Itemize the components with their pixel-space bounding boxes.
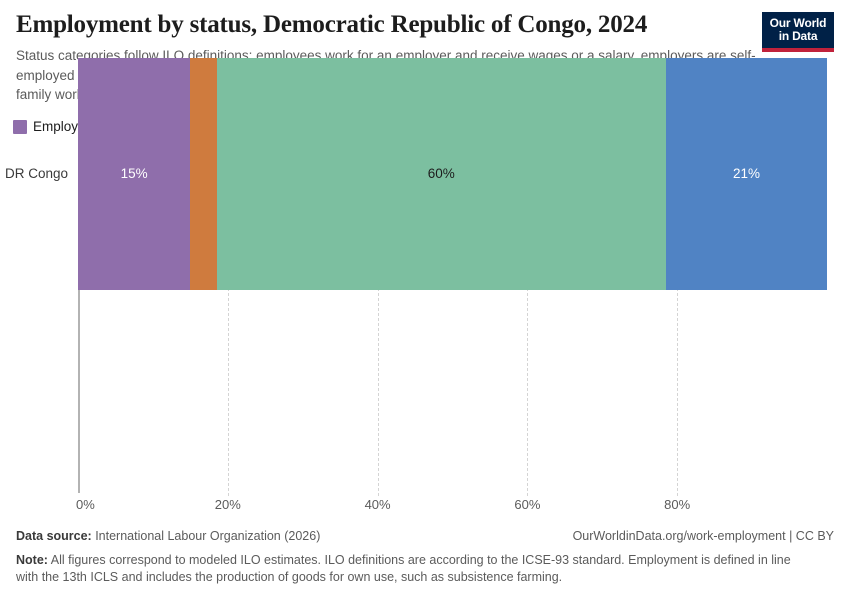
note-label: Note: (16, 553, 48, 567)
bar-segment-value: 15% (121, 166, 148, 182)
owid-logo[interactable]: Our World in Data (762, 12, 834, 52)
data-source-value: International Labour Organization (2026) (92, 529, 321, 543)
bar-segment-value: 60% (428, 166, 455, 182)
bar-segment[interactable]: 60% (217, 58, 666, 290)
x-axis-tick-label: 80% (664, 497, 690, 512)
bar-segment-value: 21% (733, 166, 760, 182)
x-axis: 0%20%40%60%80% (78, 493, 827, 513)
chart-page: Employment by status, Democratic Republi… (0, 0, 850, 600)
x-axis-tick-label: 40% (365, 497, 391, 512)
x-axis-tick-label: 20% (215, 497, 241, 512)
bar-segment[interactable]: 21% (666, 58, 827, 290)
data-source-label: Data source: (16, 529, 92, 543)
legend-swatch-icon (13, 120, 27, 134)
chart-note: Note: All figures correspond to modeled … (16, 552, 816, 585)
page-title: Employment by status, Democratic Republi… (16, 10, 756, 40)
category-label: DR Congo (5, 166, 68, 181)
data-source: Data source: International Labour Organi… (16, 528, 320, 544)
owid-logo-line2: in Data (779, 30, 818, 43)
x-axis-tick-label: 0% (76, 497, 95, 512)
bar-segment[interactable] (190, 58, 216, 290)
owid-link[interactable]: OurWorldinData.org/work-employment | CC … (573, 528, 834, 544)
chart-footer: Data source: International Labour Organi… (16, 528, 834, 585)
bar-segment[interactable]: 15% (78, 58, 190, 290)
note-value: All figures correspond to modeled ILO es… (16, 553, 791, 584)
x-axis-tick-label: 60% (514, 497, 540, 512)
owid-logo-line1: Our World (770, 17, 827, 30)
stacked-bar-row: 15%60%21% (78, 58, 827, 290)
